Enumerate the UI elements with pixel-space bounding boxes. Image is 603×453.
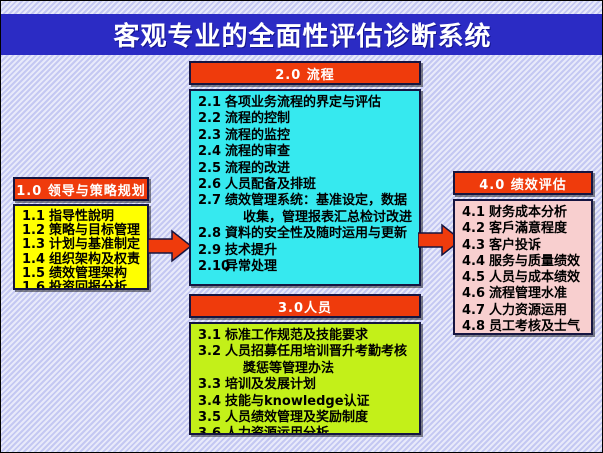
item-number: 1.4 bbox=[22, 253, 49, 267]
item-number: 4.2 bbox=[462, 221, 489, 237]
item-number: 2.4 bbox=[198, 144, 225, 160]
header-performance[interactable]: 4.0 绩效评估 bbox=[453, 171, 593, 195]
list-item: 1.3计划与基准制定 bbox=[22, 238, 142, 252]
item-text: 客户投诉 bbox=[489, 238, 541, 254]
list-item: 3.1标准工作规范及技能要求 bbox=[198, 328, 414, 344]
item-text: 人员绩效管理及奖励制度 bbox=[225, 410, 368, 426]
item-text: 技能与knowledge认证 bbox=[225, 394, 370, 410]
item-number: 2.2 bbox=[198, 111, 225, 127]
item-number: 2.7 bbox=[198, 193, 225, 209]
item-number: 2.9 bbox=[198, 243, 225, 259]
list-item: 2.2流程的控制 bbox=[198, 111, 414, 127]
item-text: 流程的控制 bbox=[225, 111, 290, 127]
list-item: 4.7人力资源运用 bbox=[462, 303, 586, 319]
item-number: 3.6 bbox=[198, 426, 225, 435]
item-text: 人力资源运用 bbox=[489, 303, 567, 319]
item-text-continued: 獎惩等管理办法 bbox=[198, 361, 414, 377]
list-item: 3.3培训及发展计划 bbox=[198, 377, 414, 393]
item-text: 客戶滿意程度 bbox=[489, 221, 567, 237]
header-people[interactable]: 3.0人员 bbox=[189, 294, 421, 318]
item-number: 4.6 bbox=[462, 286, 489, 302]
item-number: 4.5 bbox=[462, 270, 489, 286]
list-item: 1.5绩效管理架构 bbox=[22, 267, 142, 281]
item-number: 2.5 bbox=[198, 161, 225, 177]
item-text: 流程的改进 bbox=[225, 161, 290, 177]
item-number: 4.3 bbox=[462, 238, 489, 254]
item-number: 4.8 bbox=[462, 319, 489, 335]
list-item: 4.1财务成本分析 bbox=[462, 205, 586, 221]
item-number: 1.1 bbox=[22, 210, 49, 224]
item-text: 绩效管理架构 bbox=[49, 267, 127, 281]
item-text: 培训及发展计划 bbox=[225, 377, 316, 393]
item-text: 人员与成本绩效 bbox=[489, 270, 580, 286]
list-item: 3.2人员招募任用培训晋升考勤考核 bbox=[198, 344, 414, 360]
list-item: 2.8資料的安全性及随时运用与更新 bbox=[198, 226, 414, 242]
item-number: 2.8 bbox=[198, 226, 225, 242]
item-text: 流程的监控 bbox=[225, 128, 290, 144]
item-number: 2.6 bbox=[198, 177, 225, 193]
item-text-continued: 收集，管理报表汇总检讨改进 bbox=[198, 210, 414, 226]
slide-canvas: 客观专业的全面性评估诊断系统 1.0 领导与策略规划 1.1指导性說明 1.2策… bbox=[0, 0, 603, 453]
box-leadership[interactable]: 1.1指导性說明 1.2策略与目标管理 1.3计划与基准制定 1.4组织架构及权… bbox=[13, 204, 149, 290]
list-item: 2.6人员配备及排班 bbox=[198, 177, 414, 193]
item-number: 1.5 bbox=[22, 267, 49, 281]
item-number: 2.10 bbox=[198, 259, 225, 275]
item-number: 1.6 bbox=[22, 281, 49, 290]
item-text: 投资回报分析 bbox=[49, 281, 127, 290]
list-item: 1.6投资回报分析 bbox=[22, 281, 142, 290]
item-text: 人员配备及排班 bbox=[225, 177, 316, 193]
item-number: 4.7 bbox=[462, 303, 489, 319]
item-number: 4.1 bbox=[462, 205, 489, 221]
list-item: 2.1各项业务流程的界定与评估 bbox=[198, 95, 414, 111]
list-item: 4.3客户投诉 bbox=[462, 238, 586, 254]
slide-title-band: 客观专业的全面性评估诊断系统 bbox=[1, 14, 603, 55]
list-item: 4.5人员与成本绩效 bbox=[462, 270, 586, 286]
item-number: 3.2 bbox=[198, 344, 225, 360]
list-item: 3.4技能与knowledge认证 bbox=[198, 394, 414, 410]
item-text: 员工考核及士气 bbox=[489, 319, 580, 335]
item-text: 标准工作规范及技能要求 bbox=[225, 328, 368, 344]
header-process[interactable]: 2.0 流程 bbox=[189, 61, 421, 85]
item-number: 1.3 bbox=[22, 238, 49, 252]
item-text: 資料的安全性及随时运用与更新 bbox=[225, 226, 407, 242]
item-text: 组织架构及权责 bbox=[49, 253, 140, 267]
item-number: 4.4 bbox=[462, 254, 489, 270]
item-text: 异常处理 bbox=[225, 259, 277, 275]
arrow-right-icon bbox=[148, 229, 192, 263]
list-item: 2.4流程的审查 bbox=[198, 144, 414, 160]
list-item: 4.4服务与质量绩效 bbox=[462, 254, 586, 270]
list-item: 4.2客戶滿意程度 bbox=[462, 221, 586, 237]
item-number: 3.4 bbox=[198, 394, 225, 410]
list-item: 3.5人员绩效管理及奖励制度 bbox=[198, 410, 414, 426]
item-text: 人员招募任用培训晋升考勤考核 bbox=[225, 344, 407, 360]
box-performance[interactable]: 4.1财务成本分析 4.2客戶滿意程度 4.3客户投诉 4.4服务与质量绩效 4… bbox=[453, 199, 593, 335]
item-number: 3.1 bbox=[198, 328, 225, 344]
item-text: 财务成本分析 bbox=[489, 205, 567, 221]
item-number: 2.1 bbox=[198, 95, 225, 111]
item-text: 人力资源运用分析 bbox=[225, 426, 329, 435]
list-item: 2.9技术提升 bbox=[198, 243, 414, 259]
box-process[interactable]: 2.1各项业务流程的界定与评估 2.2流程的控制 2.3流程的监控 2.4流程的… bbox=[189, 89, 421, 286]
list-item: 2.3流程的监控 bbox=[198, 128, 414, 144]
item-text: 服务与质量绩效 bbox=[489, 254, 580, 270]
list-item: 1.4组织架构及权责 bbox=[22, 253, 142, 267]
item-number: 2.3 bbox=[198, 128, 225, 144]
item-text: 技术提升 bbox=[225, 243, 277, 259]
item-text: 绩效管理系统：基准设定，数据 bbox=[225, 193, 407, 209]
item-text: 计划与基准制定 bbox=[49, 238, 140, 252]
item-text: 各项业务流程的界定与评估 bbox=[225, 95, 381, 111]
item-number: 3.5 bbox=[198, 410, 225, 426]
list-item: 3.6人力资源运用分析 bbox=[198, 426, 414, 435]
list-item: 2.5流程的改进 bbox=[198, 161, 414, 177]
list-item: 4.8员工考核及士气 bbox=[462, 319, 586, 335]
list-item: 2.10异常处理 bbox=[198, 259, 414, 275]
item-text: 流程管理水准 bbox=[489, 286, 567, 302]
header-leadership[interactable]: 1.0 领导与策略规划 bbox=[13, 177, 149, 201]
list-item: 2.7绩效管理系统：基准设定，数据 bbox=[198, 193, 414, 209]
page-title: 客观专业的全面性评估诊断系统 bbox=[113, 16, 491, 53]
item-text: 流程的审查 bbox=[225, 144, 290, 160]
list-item: 4.6流程管理水准 bbox=[462, 286, 586, 302]
item-number: 3.3 bbox=[198, 377, 225, 393]
box-people[interactable]: 3.1标准工作规范及技能要求 3.2人员招募任用培训晋升考勤考核 獎惩等管理办法… bbox=[189, 322, 421, 435]
item-number: 1.2 bbox=[22, 224, 49, 238]
